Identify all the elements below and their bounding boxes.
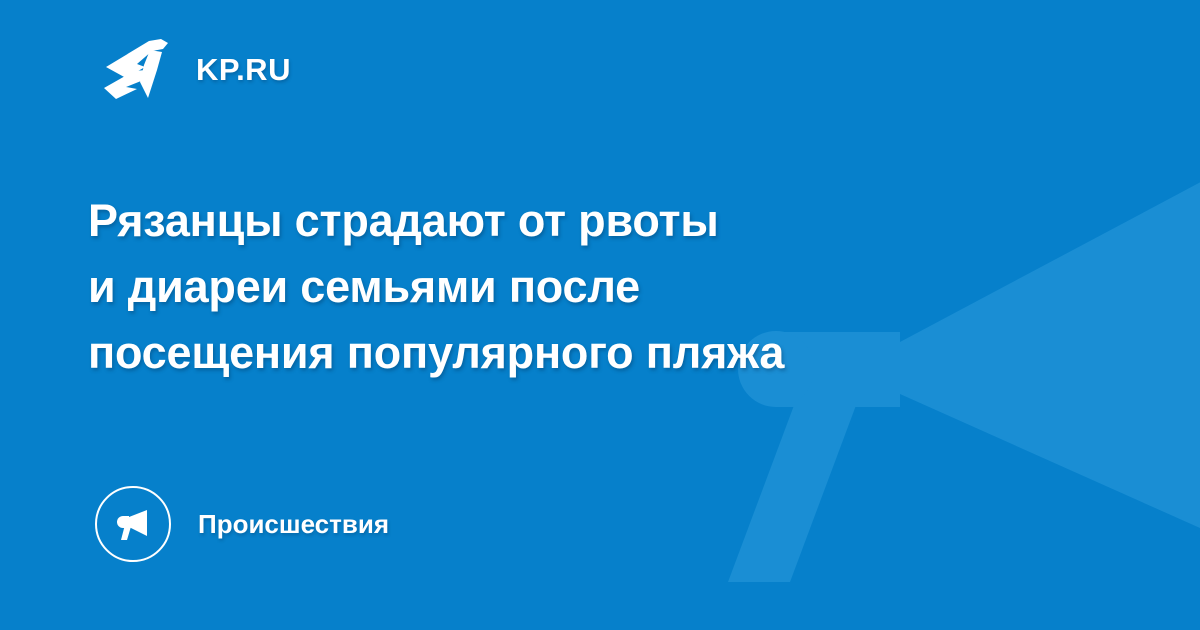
headline-line-3: посещения популярного пляжа [88, 320, 1048, 386]
category-badge[interactable]: Происшествия [95, 485, 389, 563]
headline: Рязанцы страдают от рвоты и диареи семья… [88, 188, 1048, 386]
brand-header: KP.RU [104, 38, 291, 100]
swallow-bird-icon [104, 38, 176, 100]
category-label: Происшествия [198, 511, 389, 537]
headline-line-2: и диареи семьями после [88, 254, 1048, 320]
category-icon-ring [95, 486, 171, 562]
headline-line-1: Рязанцы страдают от рвоты [88, 188, 1048, 254]
social-share-card: KP.RU Рязанцы страдают от рвоты и диареи… [0, 0, 1200, 630]
brand-name: KP.RU [196, 54, 291, 85]
megaphone-icon [113, 504, 153, 544]
